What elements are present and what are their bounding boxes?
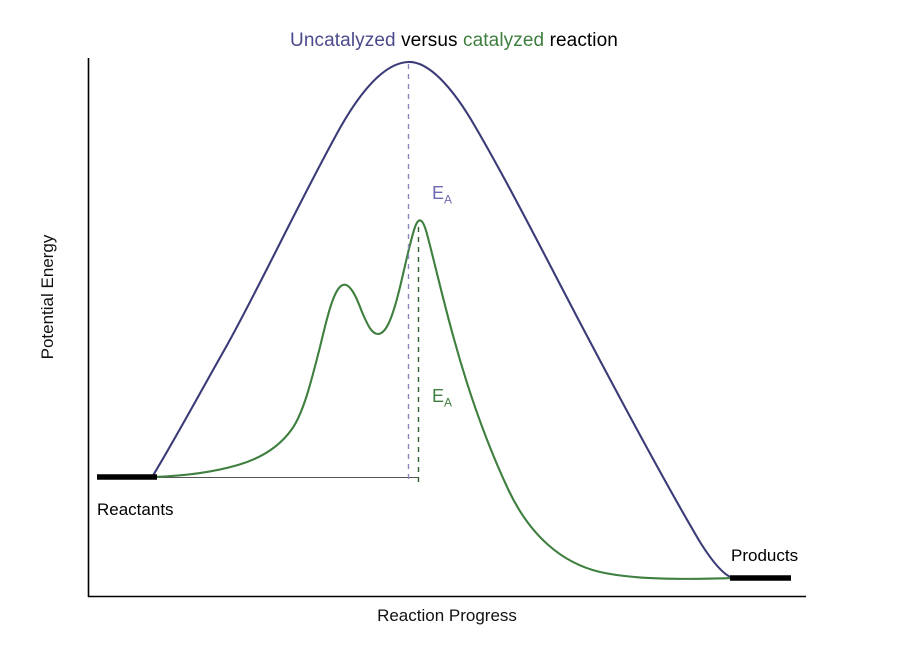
y-axis-label: Potential Energy — [38, 207, 58, 387]
title-part-versus: versus — [396, 30, 463, 51]
title-part-uncatalyzed: Uncatalyzed — [290, 30, 396, 51]
chart-title: Uncatalyzed versus catalyzed reaction — [0, 30, 908, 52]
ea-uncatalyzed-subscript: A — [444, 193, 452, 207]
energy-diagram-svg — [0, 0, 908, 671]
title-part-catalyzed: catalyzed — [463, 30, 544, 51]
products-label: Products — [731, 546, 798, 566]
x-axis-label: Reaction Progress — [88, 606, 806, 626]
chart-canvas: Uncatalyzed versus catalyzed reaction Po… — [0, 0, 908, 671]
reactants-label: Reactants — [97, 500, 174, 520]
activation-energy-label-catalyzed: EA — [432, 386, 452, 407]
ea-uncatalyzed-symbol: E — [432, 183, 444, 203]
title-part-reaction: reaction — [544, 30, 618, 51]
ea-catalyzed-symbol: E — [432, 386, 444, 406]
activation-energy-label-uncatalyzed: EA — [432, 183, 452, 204]
ea-catalyzed-subscript: A — [444, 396, 452, 410]
uncatalyzed-curve — [152, 62, 733, 578]
